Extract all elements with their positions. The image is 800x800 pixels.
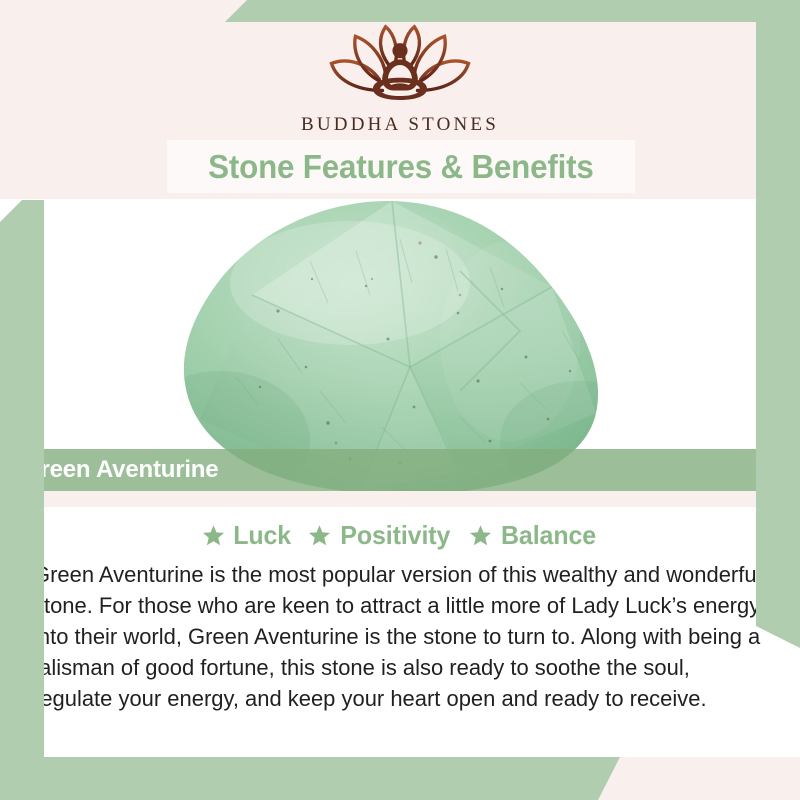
title-banner: Stone Features & Benefits xyxy=(167,140,635,193)
description-text: Green Aventurine is the most popular ver… xyxy=(33,559,766,714)
brand-name: BUDDHA STONES xyxy=(301,114,499,136)
star-icon xyxy=(202,524,225,547)
frame-accent-bottom-left xyxy=(0,757,620,800)
frame-accent-left xyxy=(0,200,44,800)
product-name: Green Aventurine xyxy=(22,456,218,484)
keyword-list: Luck Positivity Balance xyxy=(0,520,800,551)
keyword-label: Balance xyxy=(501,520,596,551)
brand-logo: BUDDHA STONES xyxy=(0,22,800,136)
star-icon xyxy=(469,524,492,547)
keyword-label: Positivity xyxy=(341,520,451,551)
description-panel: Luck Positivity Balance Green Aventurine… xyxy=(0,507,800,757)
product-name-bar: Green Aventurine xyxy=(0,449,800,491)
page-title: Stone Features & Benefits xyxy=(208,148,593,186)
keyword-item: Balance xyxy=(469,520,598,551)
keyword-item: Luck xyxy=(202,520,292,551)
star-icon xyxy=(308,524,331,547)
keyword-item: Positivity xyxy=(308,520,453,551)
frame-accent-right xyxy=(756,0,800,648)
divider xyxy=(0,491,800,507)
infographic-page: BUDDHA STONES Stone Features & Benefits xyxy=(0,0,800,800)
lotus-meditation-figure-icon xyxy=(320,22,480,108)
frame-accent-top-right xyxy=(225,0,800,22)
keyword-label: Luck xyxy=(233,520,291,551)
